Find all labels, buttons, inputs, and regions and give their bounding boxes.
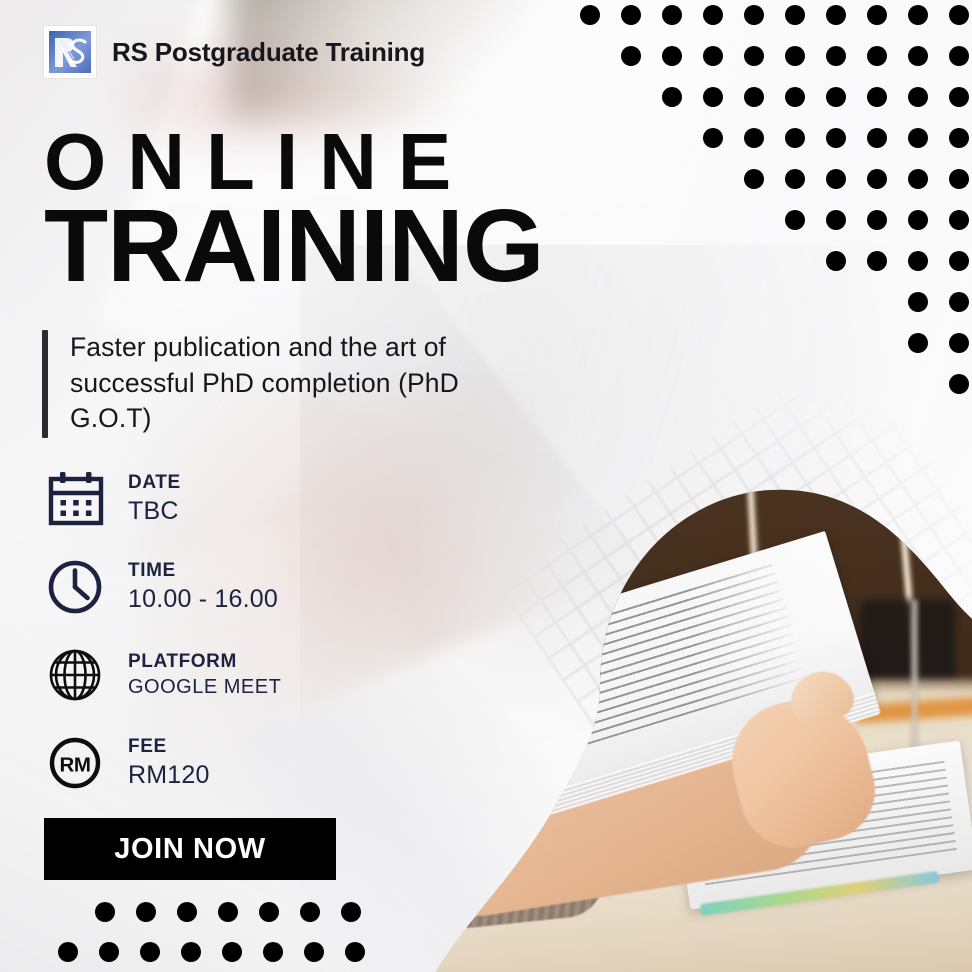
decor-dot [744, 5, 764, 25]
decor-dot [867, 128, 887, 148]
decor-dot [908, 292, 928, 312]
decor-dot [703, 87, 723, 107]
decor-dot [341, 902, 361, 922]
brand-name: RS Postgraduate Training [112, 37, 425, 68]
decor-dot [345, 942, 365, 962]
decor-dot [949, 87, 969, 107]
decor-dot [908, 251, 928, 271]
decor-dot [263, 942, 283, 962]
join-now-button[interactable]: JOIN NOW [44, 818, 336, 880]
decor-dot [867, 5, 887, 25]
detail-row-fee: RM FEE RM120 [44, 732, 281, 794]
decor-dot [949, 333, 969, 353]
decor-dot [826, 210, 846, 230]
decor-dot [867, 210, 887, 230]
decor-dot [785, 5, 805, 25]
detail-value: 10.00 - 16.00 [128, 584, 278, 615]
decor-dot [580, 5, 600, 25]
title-line-training: TRAINING [44, 196, 544, 297]
decor-dot [95, 902, 115, 922]
detail-row-platform: PLATFORM GOOGLE MEET [44, 644, 281, 706]
decor-dot [703, 5, 723, 25]
decor-dot [908, 5, 928, 25]
decor-dot [621, 5, 641, 25]
decor-dot [181, 942, 201, 962]
decor-dot [58, 942, 78, 962]
decor-dot [867, 251, 887, 271]
decor-dot [826, 128, 846, 148]
detail-label: FEE [128, 735, 210, 759]
decor-dot [744, 128, 764, 148]
decor-dot [908, 169, 928, 189]
decor-dot [867, 87, 887, 107]
decor-dot [621, 46, 641, 66]
calendar-icon [44, 468, 108, 530]
decor-dot [785, 46, 805, 66]
decor-dot [949, 128, 969, 148]
detail-value: TBC [128, 496, 181, 527]
decor-dot [703, 128, 723, 148]
decor-dot [785, 210, 805, 230]
decor-dot [744, 169, 764, 189]
decor-dot [136, 902, 156, 922]
subtitle-text: Faster publication and the art of succes… [70, 330, 500, 438]
decor-dot [662, 87, 682, 107]
svg-text:RM: RM [60, 754, 91, 777]
decor-dot [908, 210, 928, 230]
decor-dot [826, 46, 846, 66]
detail-value: GOOGLE MEET [128, 675, 281, 700]
decor-dot [908, 46, 928, 66]
subtitle-accent-bar [42, 330, 48, 438]
subtitle-block: Faster publication and the art of succes… [42, 330, 500, 438]
decor-dot [304, 942, 324, 962]
decor-dot [949, 292, 969, 312]
detail-text-platform: PLATFORM GOOGLE MEET [128, 650, 281, 701]
decor-dots-bottom-left [0, 880, 460, 972]
decor-dot [259, 902, 279, 922]
decor-dot [949, 169, 969, 189]
decor-dot [785, 169, 805, 189]
decor-dot [177, 902, 197, 922]
decor-dot [908, 87, 928, 107]
rm-currency-icon: RM [44, 732, 108, 794]
brand-header: RS Postgraduate Training [44, 26, 425, 78]
decor-dot [908, 128, 928, 148]
decor-dot [140, 942, 160, 962]
detail-text-time: TIME 10.00 - 16.00 [128, 559, 278, 616]
detail-text-fee: FEE RM120 [128, 735, 210, 792]
decor-dot [222, 942, 242, 962]
detail-text-date: DATE TBC [128, 471, 181, 528]
decor-dot [949, 251, 969, 271]
decor-dot [826, 87, 846, 107]
decor-dot [300, 902, 320, 922]
decor-dot [949, 210, 969, 230]
decor-dot [908, 333, 928, 353]
decor-dot [867, 169, 887, 189]
decor-dot [949, 46, 969, 66]
globe-icon [44, 644, 108, 706]
event-details-list: DATE TBC TIME 10.00 - 16.00 [44, 468, 281, 820]
decor-dot [826, 5, 846, 25]
decor-dot [826, 251, 846, 271]
detail-row-date: DATE TBC [44, 468, 281, 530]
detail-label: TIME [128, 559, 278, 583]
decor-dot [826, 169, 846, 189]
decor-dot [703, 46, 723, 66]
detail-row-time: TIME 10.00 - 16.00 [44, 556, 281, 618]
decor-dot [867, 46, 887, 66]
decor-dot [785, 87, 805, 107]
detail-value: RM120 [128, 760, 210, 791]
decor-dot [744, 87, 764, 107]
clock-icon [44, 556, 108, 618]
poster-canvas: RS Postgraduate Training ONLINE TRAINING… [0, 0, 972, 972]
decor-dot [949, 374, 969, 394]
rs-monogram-logo [44, 26, 96, 78]
decor-dot [662, 5, 682, 25]
detail-label: DATE [128, 471, 181, 495]
decor-dot [785, 128, 805, 148]
decor-dot [218, 902, 238, 922]
decor-dot [949, 5, 969, 25]
decor-dot [99, 942, 119, 962]
decor-dot [744, 46, 764, 66]
decor-dot [662, 46, 682, 66]
detail-label: PLATFORM [128, 650, 281, 674]
